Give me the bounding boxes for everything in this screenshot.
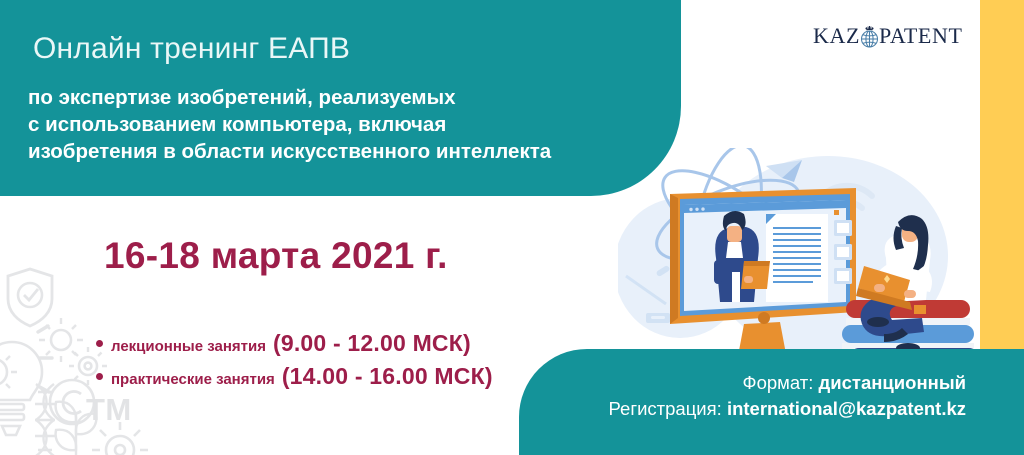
schedule-item-label: лекционные занятия (111, 338, 266, 355)
banner-root: TM (0, 0, 1024, 455)
header-panel: Онлайн тренинг ЕАПВ по экспертизе изобре… (0, 0, 681, 196)
format-row: Формат: дистанционный (609, 370, 967, 396)
bullet-dot-icon (96, 373, 103, 380)
subtitle-line-1: по экспертизе изобретений, реализуемых (28, 84, 551, 111)
copyright-icon (50, 380, 94, 424)
format-label: Формат: (743, 372, 814, 393)
bullet-dot-icon (96, 340, 103, 347)
paper-plane-icon (766, 160, 802, 182)
wifi-icon (822, 186, 872, 219)
globe-emblem-svg (860, 25, 879, 49)
schedule-list: лекционные занятия (9.00 - 12.00 МСК) пр… (96, 330, 493, 396)
registration-row: Регистрация: international@kazpatent.kz (609, 396, 967, 422)
monitor-screen-border (680, 194, 850, 316)
schedule-item-label: практические занятия (111, 371, 275, 388)
monitor-frame-edge (670, 194, 678, 324)
video-call-man (714, 211, 770, 302)
list-item: лекционные занятия (9.00 - 12.00 МСК) (96, 330, 493, 357)
schedule-item-time: (14.00 - 16.00 МСК) (282, 363, 493, 390)
logo-text-left: KAZ (813, 25, 860, 47)
page-subtitle: по экспертизе изобретений, реализуемых с… (28, 84, 551, 165)
list-item: практические занятия (14.00 - 16.00 МСК) (96, 363, 493, 390)
plant-sprout-icon (56, 402, 97, 455)
gear-icon (92, 422, 148, 455)
atom-orbit-icon (646, 148, 809, 301)
schedule-item-time: (9.00 - 12.00 МСК) (273, 330, 471, 357)
background-blob (708, 156, 948, 356)
illustration-svg (618, 148, 990, 376)
registration-label: Регистрация: (609, 398, 722, 419)
footer-info: Формат: дистанционный Регистрация: inter… (609, 370, 967, 422)
format-value: дистанционный (819, 372, 967, 393)
gear-icon (39, 318, 83, 362)
monitor-power-button (758, 312, 770, 324)
online-training-illustration (618, 148, 990, 376)
shield-check-icon (8, 269, 52, 326)
subtitle-line-3: изобретения в области искусственного инт… (28, 138, 551, 165)
logo-text-right: PATENT (879, 25, 962, 47)
event-date: 16-18 марта 2021 г. (104, 235, 448, 277)
registration-email[interactable]: international@kazpatent.kz (727, 398, 966, 419)
subtitle-line-2: с использованием компьютера, включая (28, 111, 551, 138)
document-fold (766, 214, 776, 224)
floating-objects (626, 265, 671, 323)
window-dots-icon (689, 207, 704, 211)
wifi-icon (843, 223, 851, 231)
background-blob (618, 198, 746, 338)
screen-thumbnail-list (834, 210, 852, 284)
footer-panel: Формат: дистанционный Регистрация: inter… (519, 349, 1024, 455)
woman-with-laptop (856, 215, 932, 353)
kazpatent-logo: KAZ PATENT (813, 22, 962, 50)
monitor-frame (670, 188, 856, 324)
globe-emblem-icon (860, 25, 879, 49)
spark-dashes-icon (38, 326, 52, 392)
document-page (766, 214, 828, 302)
browser-titlebar (684, 200, 846, 213)
lightbulb-gear-icon (0, 342, 42, 435)
trademark-watermark: TM (86, 392, 132, 428)
document-text-lines (773, 228, 821, 282)
page-title: Онлайн тренинг ЕАПВ (33, 32, 350, 66)
monitor-screen (684, 200, 846, 311)
dna-icon (35, 384, 55, 455)
